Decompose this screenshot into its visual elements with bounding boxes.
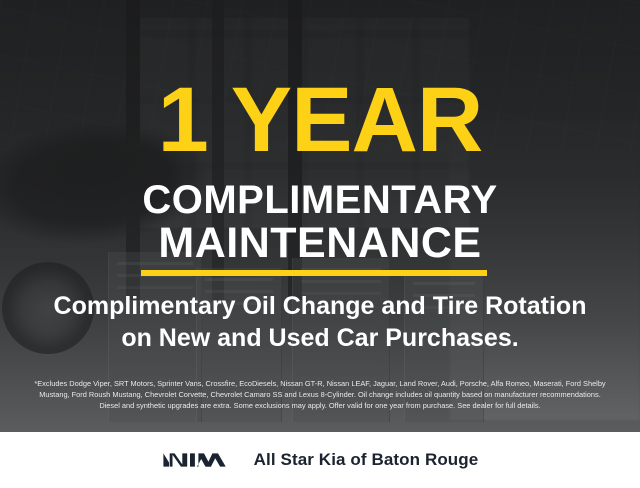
banner-copy: 1 YEAR COMPLIMENTARY MAINTENANCE Complim… xyxy=(0,0,640,432)
headline-year: 1 YEAR xyxy=(0,74,640,166)
yellow-divider-rule xyxy=(141,270,487,276)
kia-logo xyxy=(162,449,232,471)
offer-description-line-2: on New and Used Car Purchases. xyxy=(0,326,640,351)
footer-bar: All Star Kia of Baton Rouge xyxy=(0,432,640,488)
offer-description-line-1: Complimentary Oil Change and Tire Rotati… xyxy=(0,294,640,319)
headline-maintenance: MAINTENANCE xyxy=(0,222,640,265)
hero-photo-area: 1 YEAR COMPLIMENTARY MAINTENANCE Complim… xyxy=(0,0,640,432)
disclaimer-line-3: Diesel and synthetic upgrades are extra.… xyxy=(16,400,624,411)
disclaimer-text: *Excludes Dodge Viper, SRT Motors, Sprin… xyxy=(16,378,624,412)
disclaimer-line-2: Mustang, Ford Roush Mustang, Chevrolet C… xyxy=(16,389,624,400)
dealer-name: All Star Kia of Baton Rouge xyxy=(254,450,479,470)
disclaimer-line-1: *Excludes Dodge Viper, SRT Motors, Sprin… xyxy=(16,378,624,389)
promotional-banner: 1 YEAR COMPLIMENTARY MAINTENANCE Complim… xyxy=(0,0,640,488)
headline-complimentary: COMPLIMENTARY xyxy=(0,180,640,220)
